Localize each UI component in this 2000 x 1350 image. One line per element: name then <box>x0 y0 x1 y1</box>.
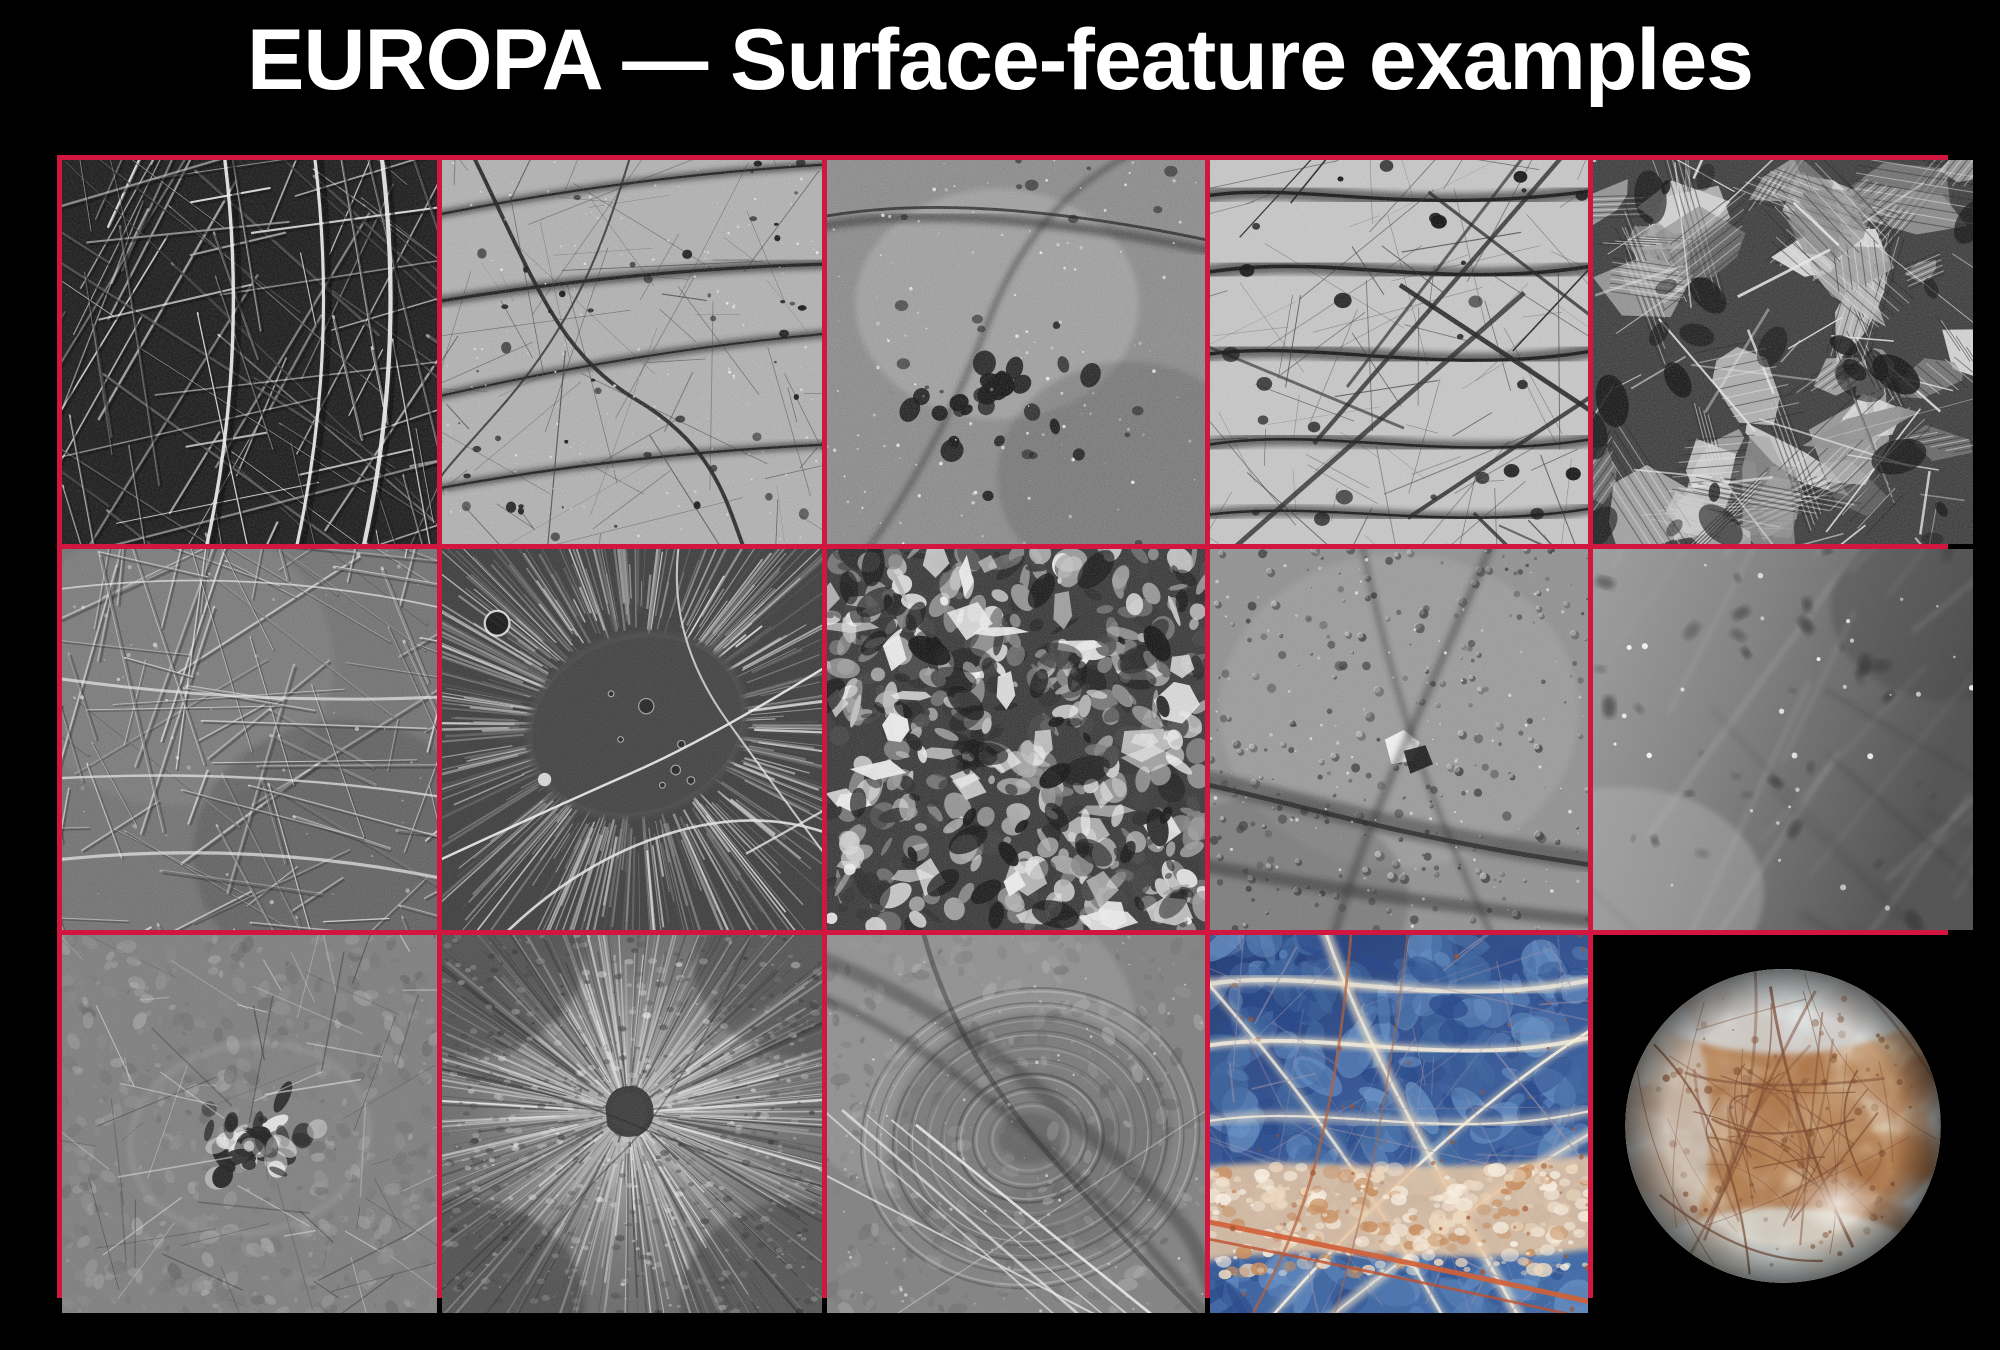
grid-cell-smooth-low-contrast-plains[interactable] <box>1593 549 1973 930</box>
europa-figure-page: EUROPA — Surface-feature examples <box>0 0 2000 1350</box>
page-title: EUROPA — Surface-feature examples <box>0 4 2000 116</box>
grid-cell-pitted-terrain-dark-spots[interactable] <box>827 160 1205 544</box>
grid-cell-multiring-impact-basin-tyre[interactable] <box>827 935 1205 1313</box>
surface-feature-grid <box>57 155 1948 1298</box>
grid-cell-ridged-plains-high-contrast[interactable] <box>62 160 437 544</box>
grid-cell-europa-global-view[interactable] <box>1593 935 1973 1313</box>
grid-cell-cratered-plains-dark-band[interactable] <box>1210 549 1588 930</box>
grid-cell-false-color-lineae-and-chaos[interactable] <box>1210 935 1588 1313</box>
grid-cell-crosscutting-ridge-network[interactable] <box>62 549 437 930</box>
grid-cell-domed-uplift-chaos-patch[interactable] <box>62 935 437 1313</box>
grid-cell-lenticula-smooth-plateau[interactable] <box>442 549 822 930</box>
grid-cell-chaos-terrain-ice-rafts[interactable] <box>1593 160 1973 544</box>
grid-cell-triple-bands-dark-lineae-network[interactable] <box>1210 160 1588 544</box>
grid-cell-bright-plains-dark-lineae[interactable] <box>442 160 822 544</box>
grid-cell-rayed-impact-crater-pwyll[interactable] <box>442 935 822 1313</box>
grid-cell-chaos-terrain-blocky-matrix[interactable] <box>827 549 1205 930</box>
